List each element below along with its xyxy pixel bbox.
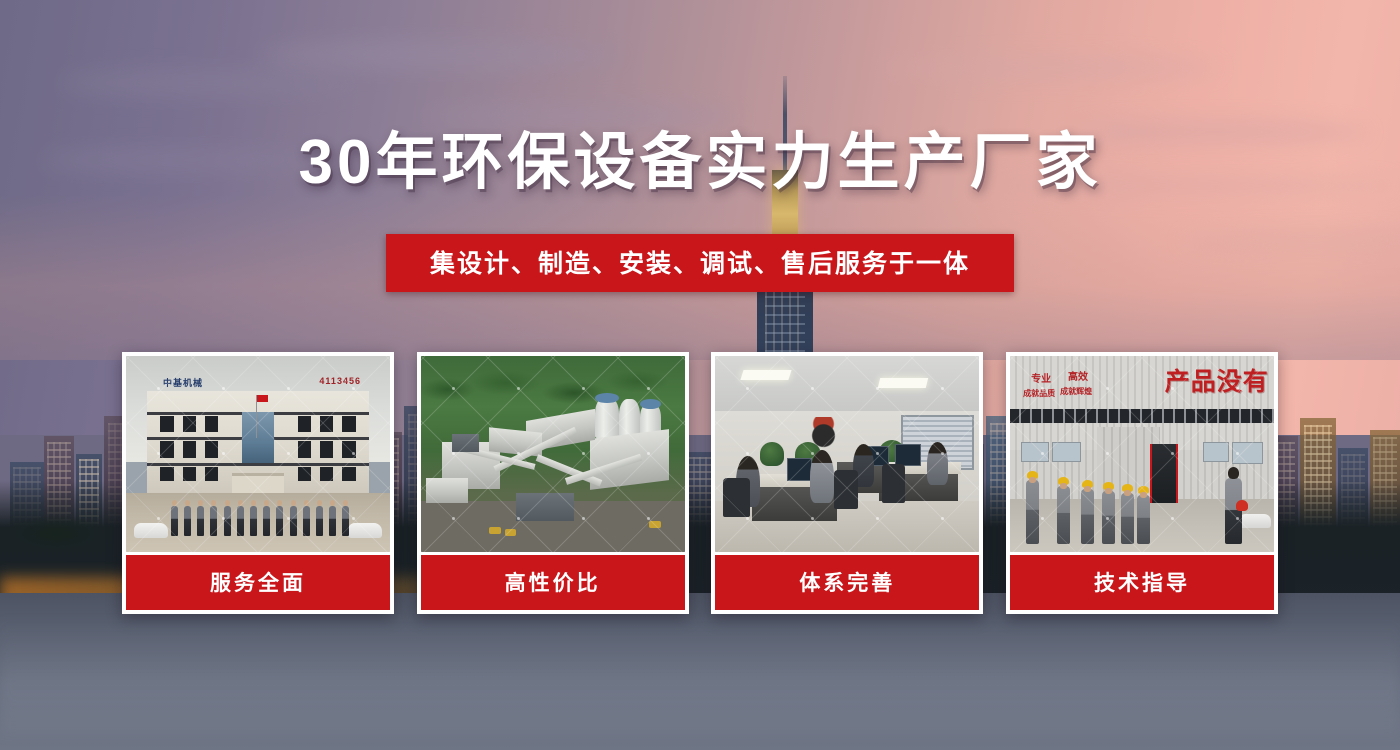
parked-car [348, 523, 382, 538]
office-chair [834, 470, 858, 509]
factory-worker [1081, 489, 1094, 544]
factory-worker [1137, 495, 1150, 544]
factory-window [1021, 442, 1049, 462]
water-reflection [0, 615, 1400, 735]
yellow-excavator [649, 521, 661, 528]
staff-person [184, 506, 191, 536]
cloud-7 [420, 105, 740, 127]
factory-worker [1057, 486, 1070, 544]
factory-window [1203, 442, 1229, 462]
photo-office-building: 中基机械 4113456 [126, 356, 390, 552]
supervisor-person [1225, 478, 1242, 544]
staff-person [197, 506, 204, 536]
factory-slogan-3: 高效 [1068, 372, 1088, 384]
staff-person [303, 506, 310, 536]
photo-factory-workers: 产品没有 专业 成就品质 高效 成就辉煌 [1010, 356, 1274, 552]
staff-person [276, 506, 283, 536]
office-worker [927, 442, 948, 485]
red-helmet [1236, 500, 1248, 511]
yellow-excavator [489, 527, 501, 534]
feature-card-system[interactable]: 体系完善 [711, 352, 983, 614]
staff-person [224, 506, 231, 536]
cement-silo [595, 397, 619, 438]
staff-person [237, 506, 244, 536]
staff-person [250, 506, 257, 536]
staff-person [342, 506, 349, 536]
office-block [426, 478, 468, 503]
office-chair [882, 464, 906, 503]
feature-card-training[interactable]: 产品没有 专业 成就品质 高效 成就辉煌 [1006, 352, 1278, 614]
card-caption: 体系完善 [715, 555, 979, 610]
staff-person [210, 506, 217, 536]
parked-car [1239, 514, 1271, 528]
silo-cap [595, 393, 619, 403]
subtitle-banner: 集设计、制造、安装、调试、售后服务于一体 [0, 234, 1400, 292]
factory-slogan-1: 专业 [1031, 374, 1051, 386]
feature-card-list: 中基机械 4113456 服务全面 [122, 352, 1278, 614]
building-glass-atrium [242, 412, 273, 463]
computer-monitor [895, 444, 921, 466]
cloud-2 [260, 40, 620, 70]
factory-window-strip [1010, 409, 1274, 423]
cloud-3 [880, 55, 1220, 81]
page-title: 30年环保设备实力生产厂家 [0, 132, 1400, 194]
office-chair [723, 478, 749, 517]
workshop-roof [516, 493, 574, 520]
feature-card-value[interactable]: 高性价比 [417, 352, 689, 614]
factory-slogan-4: 成就辉煌 [1060, 387, 1092, 396]
yellow-excavator [505, 529, 516, 536]
staff-person [263, 506, 270, 536]
ceiling-light [740, 370, 791, 380]
china-flag [257, 395, 268, 402]
photo-industrial-plant-aerial [421, 356, 685, 552]
staff-person [316, 506, 323, 536]
card-caption: 服务全面 [126, 555, 390, 610]
staff-person [171, 506, 178, 536]
parked-car [134, 523, 168, 538]
factory-window [1232, 442, 1263, 464]
photo-office-interior [715, 356, 979, 552]
hero-banner: 30年环保设备实力生产厂家 集设计、制造、安装、调试、售后服务于一体 [0, 0, 1400, 750]
factory-door [1150, 444, 1178, 503]
subtitle-text: 集设计、制造、安装、调试、售后服务于一体 [386, 234, 1014, 292]
card-caption: 高性价比 [421, 555, 685, 610]
factory-window [1052, 442, 1080, 462]
factory-worker [1102, 491, 1115, 544]
factory-wall-headline: 产品没有 [1165, 362, 1269, 398]
factory-slogan-2: 成就品质 [1023, 389, 1055, 398]
building-entrance [232, 473, 285, 494]
building-phone-number: 4113456 [319, 376, 361, 386]
ceiling-light [878, 378, 928, 388]
cloud-1 [60, 70, 360, 96]
workshop-roof [452, 434, 478, 452]
factory-worker [1121, 493, 1134, 544]
office-plant [760, 442, 784, 466]
card-caption: 技术指导 [1010, 555, 1274, 610]
building-company-sign: 中基机械 [163, 376, 203, 389]
staff-person [329, 506, 336, 536]
feature-card-service[interactable]: 中基机械 4113456 服务全面 [122, 352, 394, 614]
office-worker [810, 450, 834, 503]
computer-monitor [787, 458, 813, 482]
factory-worker [1026, 480, 1039, 544]
staff-person [290, 506, 297, 536]
silo-cap [640, 399, 661, 409]
